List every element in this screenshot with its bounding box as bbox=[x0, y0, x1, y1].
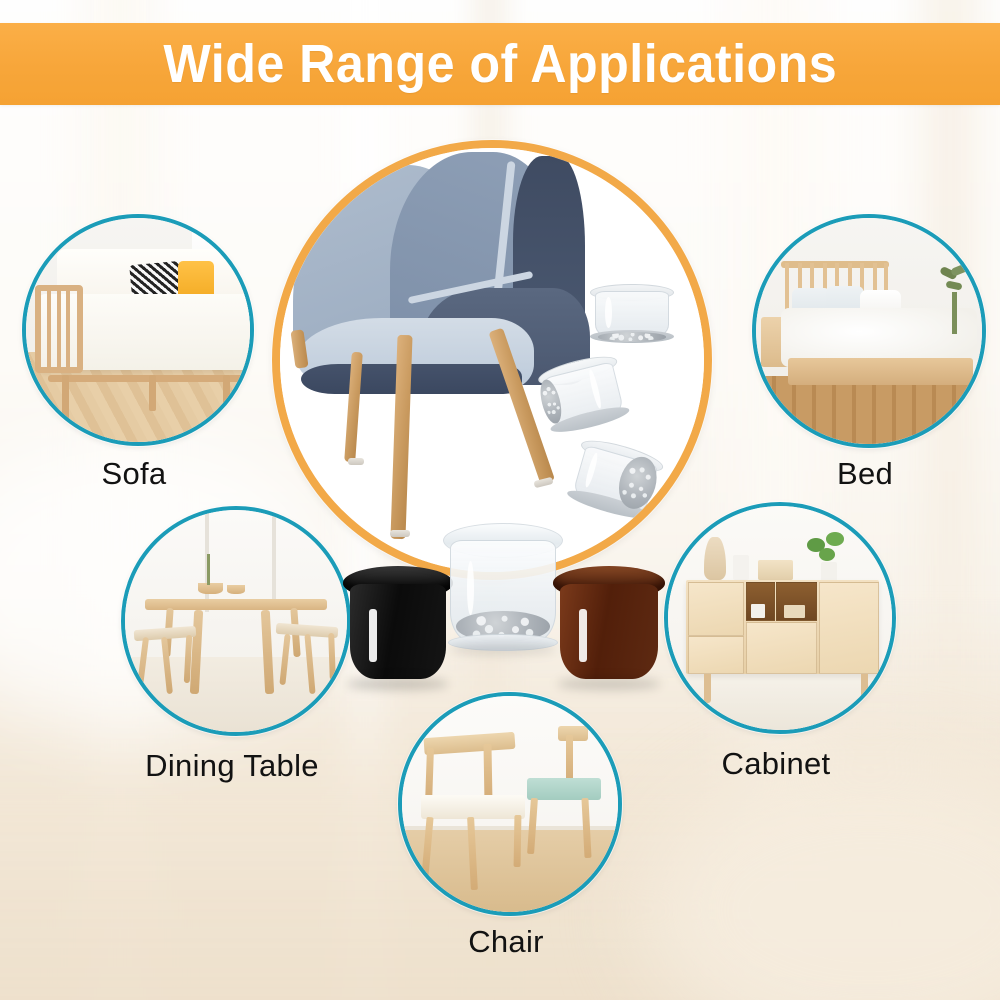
bed-floor bbox=[756, 376, 982, 444]
chair-leg bbox=[514, 815, 522, 867]
cabinet-leg bbox=[704, 674, 711, 703]
sofa-scene bbox=[26, 218, 250, 442]
cabinet-cup bbox=[733, 555, 749, 580]
product-cap-transparent bbox=[443, 523, 563, 651]
dining-window-frame bbox=[272, 510, 276, 608]
hero-cap-clear-bottom bbox=[565, 434, 665, 523]
page-title: Wide Range of Applications bbox=[163, 37, 837, 91]
hero-chair-seat-shadow bbox=[301, 364, 521, 394]
cabinet-shelf-box bbox=[784, 605, 805, 618]
application-label-bed: Bed bbox=[752, 458, 978, 489]
sofa-leg bbox=[149, 375, 156, 411]
hero-scene bbox=[280, 148, 704, 572]
cabinet-door bbox=[746, 622, 817, 674]
application-label-chair: Chair bbox=[398, 926, 614, 957]
bed-frame bbox=[788, 358, 973, 385]
application-circle-bed[interactable] bbox=[752, 214, 986, 448]
hero-circle-chair-with-caps[interactable] bbox=[272, 140, 712, 580]
product-cap-brown bbox=[553, 566, 665, 686]
cabinet-door bbox=[819, 582, 879, 674]
cabinet-leg bbox=[861, 674, 868, 703]
dining-cup bbox=[227, 585, 245, 594]
application-circle-chair[interactable] bbox=[398, 692, 622, 916]
cabinet-box bbox=[758, 560, 794, 580]
header-banner: Wide Range of Applications bbox=[0, 23, 1000, 105]
cabinet-door bbox=[688, 582, 744, 637]
application-label-sofa: Sofa bbox=[22, 458, 246, 489]
hero-chair-leg-tip bbox=[390, 530, 410, 537]
application-circle-sofa[interactable] bbox=[22, 214, 254, 446]
bed-scene bbox=[756, 218, 982, 444]
chair2-seat bbox=[527, 778, 600, 800]
dining-bowl bbox=[198, 583, 222, 594]
application-label-dining-table: Dining Table bbox=[96, 750, 368, 781]
product-cap-black bbox=[343, 566, 453, 686]
cabinet-door bbox=[688, 636, 744, 674]
cabinet-shelf-cup bbox=[751, 604, 764, 618]
hero-chair-leg-tip bbox=[534, 477, 554, 488]
hero-cap-clear-top bbox=[590, 284, 675, 343]
cabinet-body bbox=[686, 580, 879, 674]
sofa-leg bbox=[223, 375, 230, 406]
cabinet-vase bbox=[704, 537, 726, 580]
chair-scene bbox=[402, 696, 618, 912]
cabinet-floor bbox=[668, 672, 892, 730]
dining-chair-left bbox=[134, 628, 196, 703]
sofa-arm bbox=[35, 285, 83, 373]
sofa-leg bbox=[62, 375, 69, 420]
cabinet-plant bbox=[802, 528, 856, 582]
dining-chair-right bbox=[276, 625, 338, 700]
bed-plant bbox=[937, 263, 973, 335]
hero-chair-leg-tip bbox=[348, 458, 364, 465]
chair-seat bbox=[421, 795, 525, 819]
dining-plant bbox=[207, 554, 210, 585]
application-label-cabinet: Cabinet bbox=[652, 748, 900, 779]
